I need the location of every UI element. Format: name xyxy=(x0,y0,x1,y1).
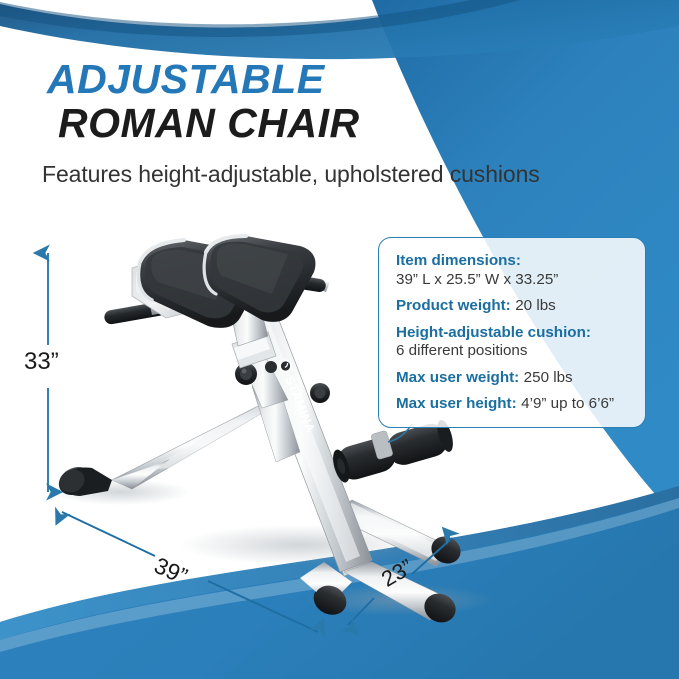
spec-label-height-adjustable-cushion: Height-adjustable cushion: xyxy=(396,324,591,341)
spec-label-product-weight: Product weight: xyxy=(396,297,511,314)
spec-row-height-adjustable-cushion: Height-adjustable cushion: 6 different p… xyxy=(396,323,631,361)
spec-value-product-weight: 20 lbs xyxy=(515,297,556,314)
spec-row-max-user-height: Max user height: 4’9” up to 6’6” xyxy=(396,394,631,414)
spec-label-max-user-height: Max user height: xyxy=(396,395,517,412)
product-infographic: STAMINA xyxy=(0,0,679,679)
spec-row-product-weight: Product weight: 20 lbs xyxy=(396,296,631,316)
page-subtitle: Features height-adjustable, upholstered … xyxy=(42,161,540,188)
spec-label-item-dimensions: Item dimensions: xyxy=(396,252,521,269)
spec-value-max-user-height: 4’9” up to 6’6” xyxy=(521,395,614,412)
page-title-line1: ADJUSTABLE xyxy=(47,58,360,102)
spec-label-max-user-weight: Max user weight: xyxy=(396,369,519,386)
spec-value-item-dimensions: 39” L x 25.5” W x 33.25” xyxy=(396,271,631,290)
spec-row-item-dimensions: Item dimensions: 39” L x 25.5” W x 33.25… xyxy=(396,251,631,289)
spec-row-max-user-weight: Max user weight: 250 lbs xyxy=(396,368,631,388)
spec-value-height-adjustable-cushion: 6 different positions xyxy=(396,342,631,361)
dimension-line-length xyxy=(62,512,318,632)
spec-value-max-user-weight: 250 lbs xyxy=(524,369,573,386)
page-title-line2: ROMAN CHAIR xyxy=(47,102,360,146)
specifications-box: Item dimensions: 39” L x 25.5” W x 33.25… xyxy=(378,237,646,428)
dimension-label-height: 33” xyxy=(24,348,59,376)
page-title-block: ADJUSTABLE ROMAN CHAIR xyxy=(47,58,360,146)
